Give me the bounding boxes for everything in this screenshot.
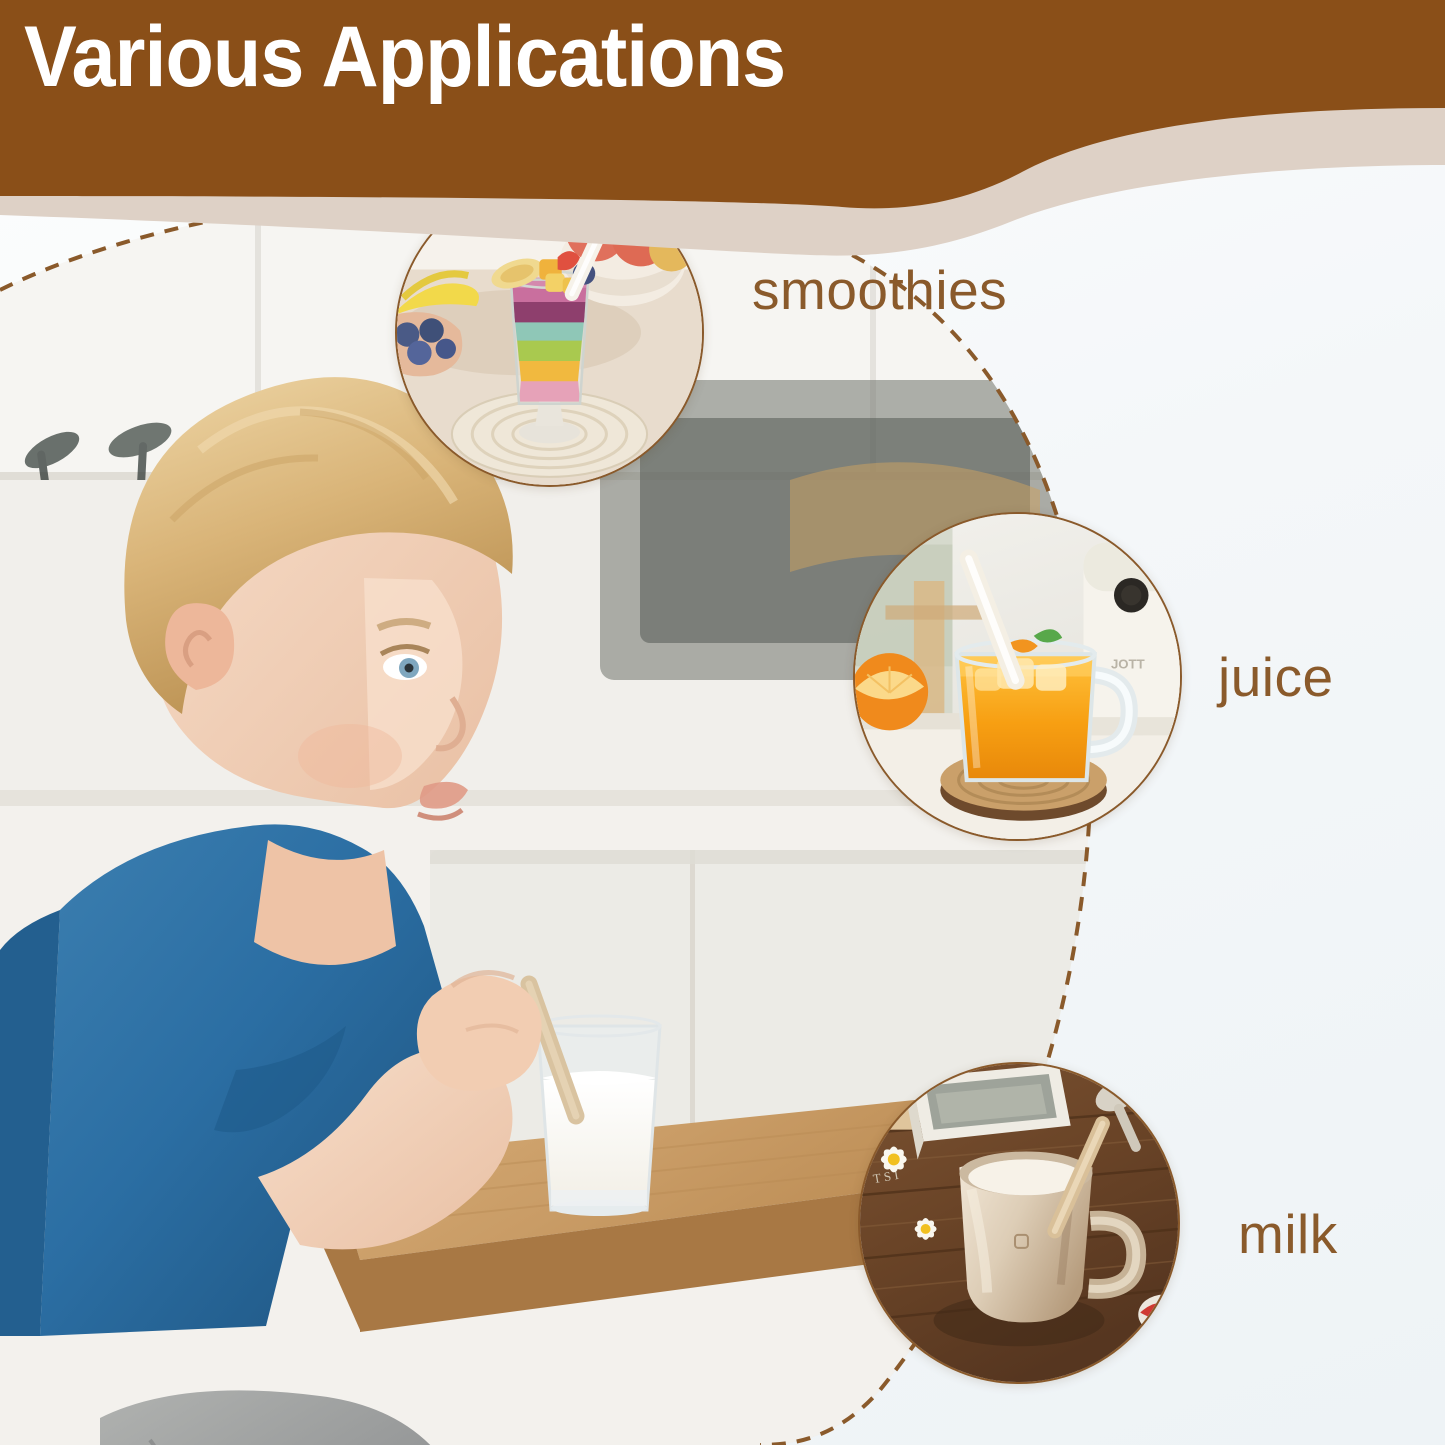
label-milk: milk <box>1238 1202 1338 1266</box>
bubble-juice[interactable]: JOTT <box>853 512 1182 841</box>
svg-text:JOTT: JOTT <box>1111 656 1145 671</box>
label-juice: juice <box>1218 645 1334 709</box>
bubble-milk[interactable]: T S I <box>858 1062 1180 1384</box>
label-smoothies: smoothies <box>752 258 1007 322</box>
page-title: Various Applications <box>24 8 785 107</box>
header-banner: Various Applications <box>0 0 1445 300</box>
marketing-graphic: Various Applications <box>0 0 1445 1445</box>
